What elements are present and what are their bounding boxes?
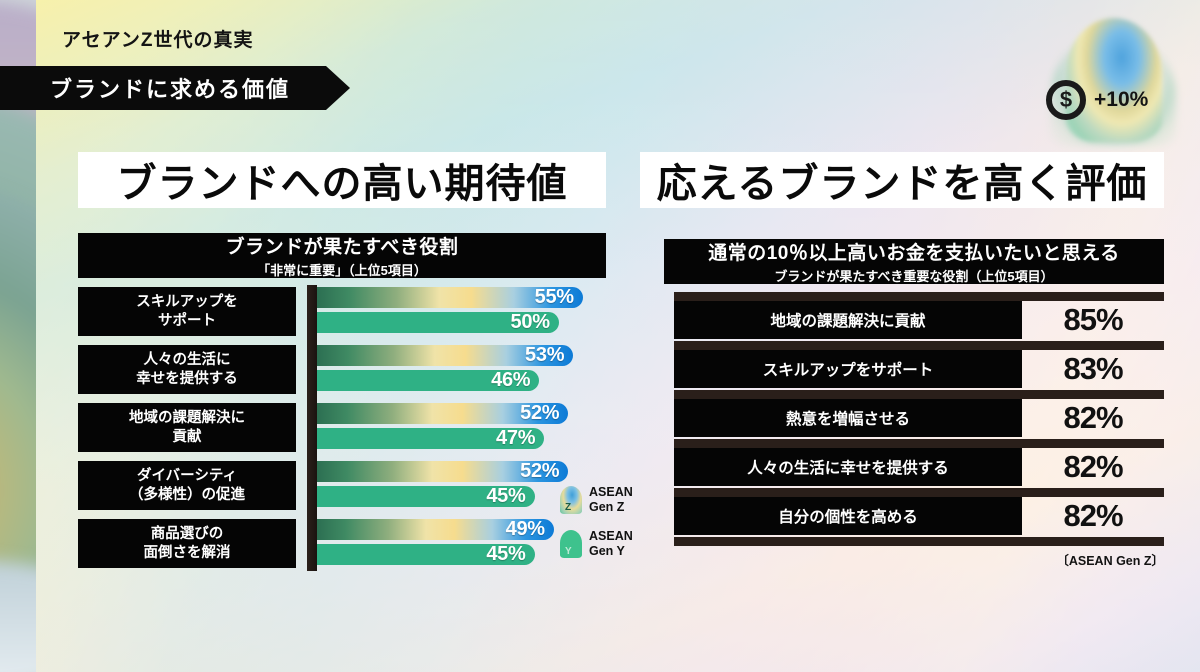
- section-ribbon-arrow: [326, 66, 350, 110]
- bar-value-label: 52%: [520, 460, 568, 483]
- row-value: 82%: [1022, 497, 1164, 535]
- bar-genz: 49%: [317, 519, 554, 540]
- right-chart-header-sub: ブランドが果たすべき重要な役割（上位5項目）: [774, 266, 1053, 285]
- legend-item-geny: Y ASEAN Gen Y: [560, 529, 680, 559]
- left-chart-header-main: ブランドが果たすべき役割: [226, 232, 459, 259]
- bar-value-label: 46%: [491, 369, 539, 392]
- bar-value-label: 50%: [511, 311, 559, 334]
- bar-geny: 46%: [317, 370, 539, 391]
- row-divider: [674, 390, 1164, 399]
- badge-person-glyph: [1066, 18, 1162, 142]
- left-panel-title: ブランドへの高い期待値: [78, 152, 606, 208]
- bar-group: 52% 47%: [317, 403, 607, 452]
- dollar-coin-icon: $: [1046, 80, 1086, 120]
- row-label: 人々の生活に幸せを提供する: [674, 448, 1022, 486]
- right-chart-bottom-divider: [674, 537, 1164, 546]
- table-row: 自分の個性を高める 82%: [664, 488, 1164, 537]
- bar-value-label: 52%: [520, 402, 568, 425]
- row-divider: [674, 488, 1164, 497]
- table-row: 人々の生活に幸せを提供する 82%: [664, 439, 1164, 488]
- bar-group: 55% 50%: [317, 287, 607, 336]
- bar-geny: 47%: [317, 428, 544, 449]
- right-chart-header: 通常の10％以上高いお金を支払いたいと思える ブランドが果たすべき重要な役割（上…: [664, 239, 1164, 284]
- bar-value-label: 47%: [496, 427, 544, 450]
- person-geny-icon: Y: [560, 530, 582, 558]
- legend-item-genz: Z ASEAN Gen Z: [560, 485, 680, 515]
- table-row: スキルアップをサポート 83%: [664, 341, 1164, 390]
- left-chart-axis: [307, 285, 317, 571]
- left-chart-header-sub: 「非常に重要」（上位5項目）: [257, 260, 427, 279]
- row-value: 82%: [1022, 399, 1164, 437]
- decorative-arc-bottom: [0, 560, 36, 672]
- bar-geny: 45%: [317, 486, 535, 507]
- legend-label-genz: ASEAN Gen Z: [589, 485, 633, 515]
- row-value: 85%: [1022, 301, 1164, 339]
- row-label: スキルアップをサポート: [674, 350, 1022, 388]
- bar-genz: 52%: [317, 403, 568, 424]
- right-chart-header-main: 通常の10％以上高いお金を支払いたいと思える: [708, 238, 1120, 265]
- bar-geny: 50%: [317, 312, 559, 333]
- bar-value-label: 49%: [506, 518, 554, 541]
- section-ribbon: ブランドに求める価値: [0, 66, 350, 110]
- row-label: 地域の課題解決に貢献: [674, 301, 1022, 339]
- person-genz-icon: Z: [560, 486, 582, 514]
- row-divider: [674, 292, 1164, 301]
- bar-value-label: 53%: [525, 344, 573, 367]
- left-panel-title-text: ブランドへの高い期待値: [117, 151, 568, 209]
- left-chart-header: ブランドが果たすべき役割 「非常に重要」（上位5項目）: [78, 233, 606, 278]
- right-panel-title: 応えるブランドを高く評価: [640, 152, 1164, 208]
- dollar-symbol: $: [1060, 89, 1072, 111]
- section-ribbon-label: ブランドに求める価値: [50, 72, 290, 104]
- category-label: ダイバーシティ （多様性）の促進: [78, 461, 296, 510]
- bar-group: 53% 46%: [317, 345, 607, 394]
- bar-genz: 52%: [317, 461, 568, 482]
- bar-value-label: 45%: [486, 485, 534, 508]
- badge-value-label: +10%: [1094, 88, 1148, 112]
- row-label: 自分の個性を高める: [674, 497, 1022, 535]
- left-chart-legend: Z ASEAN Gen Z Y ASEAN Gen Y: [560, 485, 680, 573]
- category-label: 商品選びの 面倒さを解消: [78, 519, 296, 568]
- bar-geny: 45%: [317, 544, 535, 565]
- table-row: 熱意を増幅させる 82%: [664, 390, 1164, 439]
- price-premium-badge: $ +10%: [1038, 8, 1188, 148]
- row-value: 82%: [1022, 448, 1164, 486]
- category-label: 人々の生活に 幸せを提供する: [78, 345, 296, 394]
- right-chart-note: 〔ASEAN Gen Z〕: [1056, 550, 1164, 569]
- infographic-slide: アセアンZ世代の真実 ブランドに求める価値 $ +10% ブランドへの高い期待値…: [0, 0, 1200, 672]
- bar-value-label: 45%: [486, 543, 534, 566]
- category-label: スキルアップを サポート: [78, 287, 296, 336]
- left-chart-category-labels: スキルアップを サポート 人々の生活に 幸せを提供する 地域の課題解決に 貢献 …: [78, 287, 296, 577]
- right-chart-rows: 地域の課題解決に貢献 85% スキルアップをサポート 83%: [664, 292, 1164, 537]
- right-panel-title-text: 応えるブランドを高く評価: [657, 151, 1148, 209]
- category-label: 地域の課題解決に 貢献: [78, 403, 296, 452]
- section-ribbon-body: ブランドに求める価値: [0, 66, 326, 110]
- table-row: 地域の課題解決に貢献 85%: [664, 292, 1164, 341]
- legend-label-geny: ASEAN Gen Y: [589, 529, 633, 559]
- row-value: 83%: [1022, 350, 1164, 388]
- bar-value-label: 55%: [535, 286, 583, 309]
- row-divider: [674, 341, 1164, 350]
- row-divider: [674, 439, 1164, 448]
- row-label: 熱意を増幅させる: [674, 399, 1022, 437]
- slide-kicker: アセアンZ世代の真実: [62, 25, 253, 52]
- bar-genz: 53%: [317, 345, 573, 366]
- bar-genz: 55%: [317, 287, 583, 308]
